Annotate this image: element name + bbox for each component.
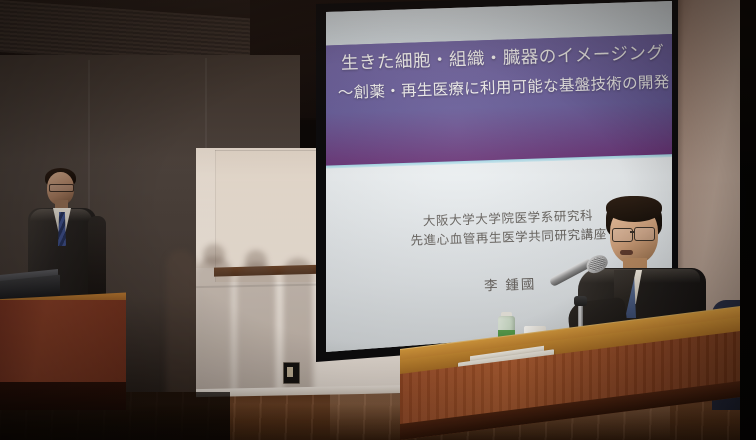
seated-speaker-glasses-bridge bbox=[630, 231, 635, 233]
seated-speaker-glasses-right bbox=[634, 227, 655, 241]
seated-speaker-mouth bbox=[620, 250, 633, 255]
wall-outlet-socket bbox=[287, 367, 293, 377]
wall-shadow bbox=[236, 262, 276, 402]
podium-base bbox=[0, 382, 126, 410]
wall-shadow-head bbox=[245, 250, 267, 272]
lecture-hall-photo: 大阪大学医学系研究科 CoMIT 生きた細胞・組織・臓器のイメージング ～創薬・… bbox=[0, 0, 756, 440]
microphone-joint bbox=[574, 296, 587, 306]
standing-speaker-glasses bbox=[49, 184, 74, 192]
wall-shadow bbox=[196, 256, 232, 402]
right-edge-dark bbox=[740, 0, 756, 440]
standing-speaker-tie bbox=[58, 212, 66, 246]
wall-shadow bbox=[166, 250, 196, 402]
door-top-edge bbox=[215, 150, 333, 151]
wall-shadow-head bbox=[203, 244, 225, 266]
seated-speaker-fringe bbox=[606, 196, 662, 222]
